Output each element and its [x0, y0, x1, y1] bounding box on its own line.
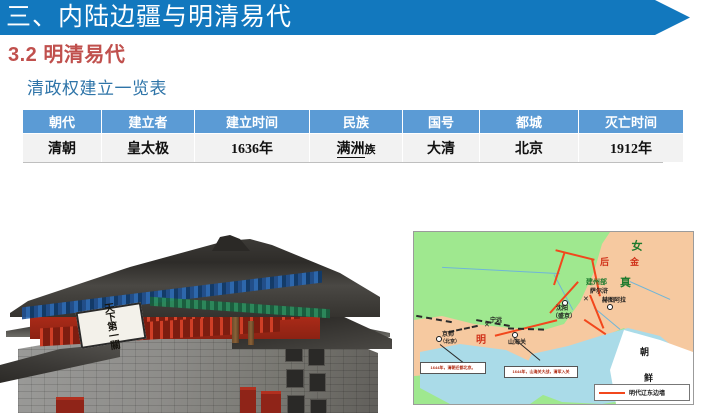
map-label-jianzhoubu: 建州部	[586, 279, 607, 286]
col-header-capital: 都城	[480, 110, 579, 134]
col-header-state: 国号	[403, 110, 480, 134]
map-legend: 明代辽东边墙	[594, 384, 690, 401]
col-header-founded: 建立时间	[195, 110, 310, 134]
map-river	[442, 267, 560, 274]
map-label-nuzhen-2: 真	[620, 278, 631, 289]
cell-ended: 1912年	[579, 134, 684, 163]
map-label-ningyuan: 宁远	[490, 318, 502, 324]
map-label-shenyang: 沈阳	[556, 306, 568, 312]
map-city-marker-hetuala	[607, 304, 613, 310]
cell-capital: 北京	[480, 134, 579, 163]
map-label-hetuala: 赫图阿拉	[602, 298, 626, 304]
cell-dynasty: 清朝	[23, 134, 102, 163]
tower-window	[308, 347, 325, 366]
col-header-ended: 灭亡时间	[579, 110, 684, 134]
map-label-xian: 鲜	[644, 374, 653, 383]
cell-ethnic-underlined: 满洲	[337, 142, 365, 158]
map-label-beijing: （北京）	[440, 340, 460, 345]
tower-red-door	[240, 387, 256, 413]
tower-red-door	[261, 391, 281, 413]
map-battle-marker-sarhu: ✕	[583, 296, 589, 303]
map-city-marker-shanhaiguan	[512, 332, 518, 338]
cell-founder: 皇太极	[102, 134, 195, 163]
cell-state-name: 大清	[403, 134, 480, 163]
tower-pillar	[248, 321, 254, 345]
map-liaodong-wall	[553, 252, 565, 285]
tower-window	[310, 399, 327, 413]
col-header-founder: 建立者	[102, 110, 195, 134]
table-row: 清朝 皇太极 1636年 满洲族 大清 北京 1912年	[23, 134, 683, 163]
map-legend-swatch-icon	[599, 392, 625, 394]
tower-window	[309, 373, 326, 392]
page-title: 三、内陆边疆与明清易代	[6, 1, 292, 35]
map-label-chao: 朝	[640, 348, 649, 357]
section-title: 3.2 明清易代	[8, 38, 125, 67]
cell-ethnic: 满洲族	[310, 134, 403, 163]
map-callout-shanhaiguan-battle: 1644年，山海关大战，清军入关	[504, 366, 578, 378]
map-battle-marker-ningyuan: ✕	[484, 322, 490, 329]
gate-tower-photo: 天下第一關	[0, 225, 400, 413]
map-callout-capital-move: 1644年，清朝迁都北京。	[420, 362, 486, 374]
map-label-shengjing: （盛京）	[552, 314, 576, 320]
map-legend-label: 明代辽东边墙	[629, 388, 665, 397]
tower-window	[286, 369, 304, 388]
dynasty-table-wrapper: 朝代 建立者 建立时间 民族 国号 都城 灭亡时间 清朝 皇太极 1636年 满…	[23, 110, 663, 162]
tower-window	[287, 395, 305, 413]
historical-map: ✕ ✕ 女 真 后 金 建州部 明 朝 鲜 沈阳 （盛京） 萨尔浒 赫图阿拉 宁…	[413, 231, 694, 405]
cell-founded: 1636年	[195, 134, 310, 163]
map-label-houjin-2: 金	[630, 258, 639, 267]
map-label-ming: 明	[476, 336, 486, 346]
map-label-jingshi: 京师	[442, 332, 454, 338]
col-header-ethnic: 民族	[310, 110, 403, 134]
tower-red-door	[56, 397, 84, 413]
dynasty-table: 朝代 建立者 建立时间 民族 国号 都城 灭亡时间 清朝 皇太极 1636年 满…	[23, 110, 683, 162]
col-header-dynasty: 朝代	[23, 110, 102, 134]
tower-pillar	[232, 317, 239, 343]
map-label-nuzhen-1: 女	[630, 240, 641, 251]
map-label-houjin-1: 后	[600, 258, 609, 267]
cell-ethnic-suffix: 族	[365, 144, 376, 156]
tower-plaque-text: 天下第一關	[103, 302, 119, 350]
table-caption: 清政权建立一览表	[27, 74, 167, 99]
gate-tower-illustration: 天下第一關	[0, 225, 400, 413]
map-label-sarhu: 萨尔浒	[590, 289, 608, 295]
table-header-row: 朝代 建立者 建立时间 民族 国号 都城 灭亡时间	[23, 110, 683, 134]
